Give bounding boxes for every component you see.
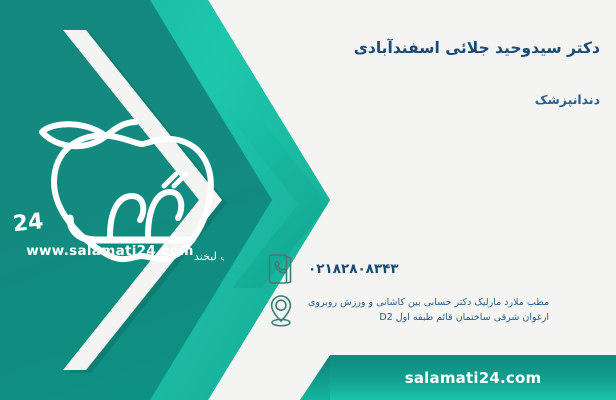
- address-line-1: مطب ملارد مارلیک دکتر حسابی بین کاشانی و…: [308, 296, 549, 311]
- logo-website-url: www.salamati24.com: [20, 243, 200, 259]
- address-line-2: ارغوان شرقی ساختمان قائم طبقه اول D2: [308, 311, 549, 326]
- address-text: مطب ملارد مارلیک دکتر حسابی بین کاشانی و…: [308, 296, 549, 325]
- address-row[interactable]: مطب ملارد مارلیک دکتر حسابی بین کاشانی و…: [264, 292, 604, 330]
- map-pin-icon: [264, 292, 298, 330]
- phone-book-icon: [264, 250, 298, 288]
- phone-number: ۰۲۱۸۲۸۰۸۳۴۳: [308, 261, 399, 277]
- phone-row[interactable]: ۰۲۱۸۲۸۰۸۳۴۳: [264, 250, 604, 288]
- logo-badge-24: 24: [14, 209, 45, 237]
- business-card: 24 به راحتی یک لبخند www.salamati24.com …: [0, 0, 616, 400]
- doctor-specialty: دندانپزشک: [270, 92, 600, 107]
- card-content: دکتر سیدوحید جلائی اسفندآبادی دندانپزشک …: [250, 0, 616, 400]
- doctor-name: دکتر سیدوحید جلائی اسفندآبادی: [270, 38, 600, 58]
